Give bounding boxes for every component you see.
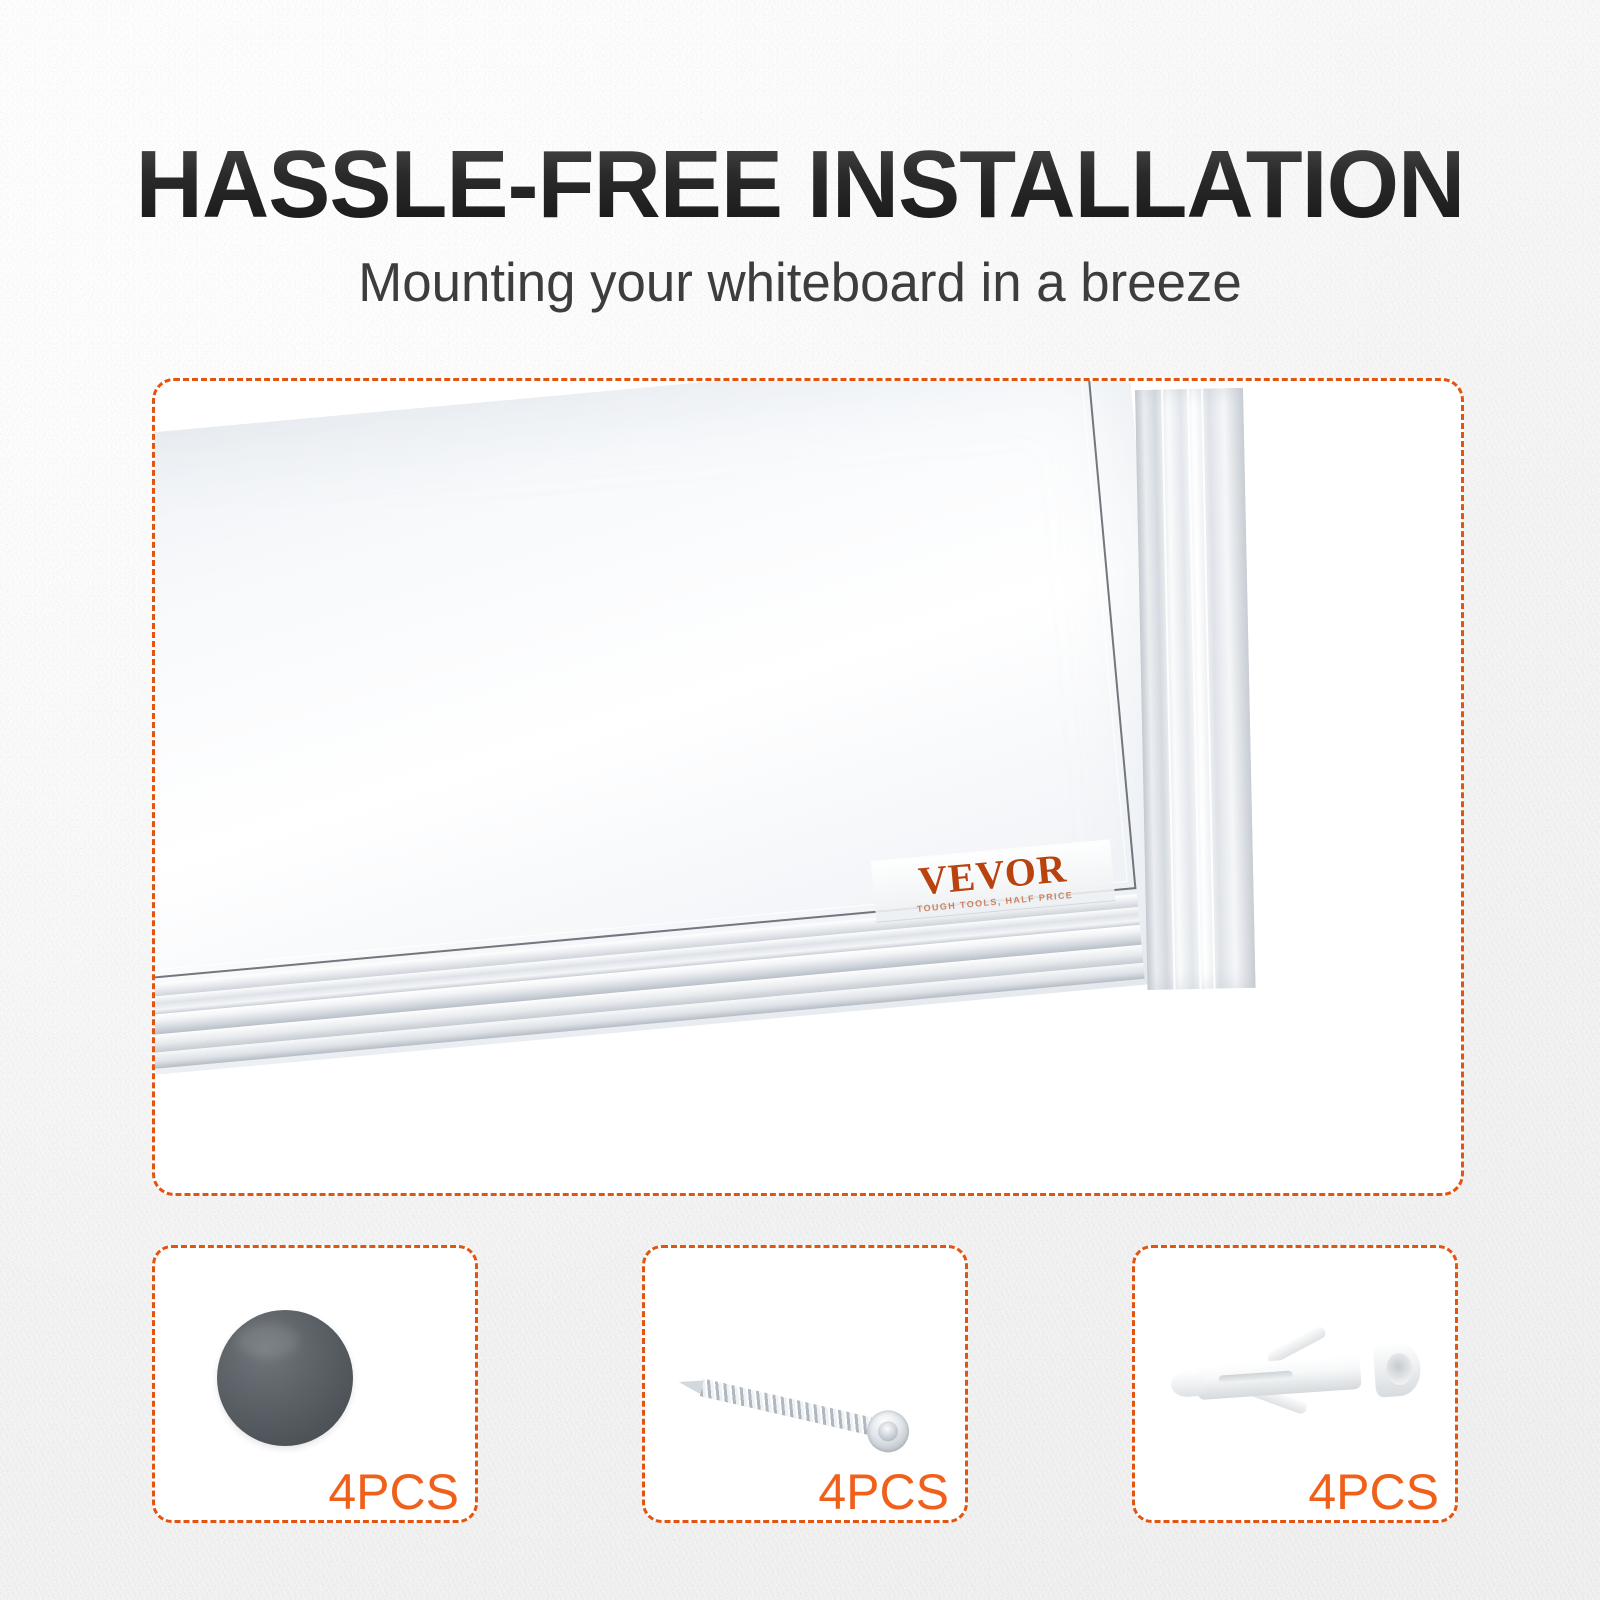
part-quantity-label: 4PCS <box>1308 1466 1439 1519</box>
installation-diagram-panel: VEVOR TOUGH TOOLS, HALF PRICE <box>152 378 1464 1196</box>
part-quantity-label: 4PCS <box>328 1466 459 1519</box>
part-quantity-label: 4PCS <box>818 1466 949 1519</box>
page-title: HASSLE-FREE INSTALLATION <box>24 136 1576 234</box>
whiteboard-right-frame <box>1135 388 1256 990</box>
page-subtitle: Mounting your whiteboard in a breeze <box>32 250 1568 314</box>
part-box-screw-cap: 4PCS <box>152 1245 478 1523</box>
whiteboard-product: VEVOR TOUGH TOOLS, HALF PRICE <box>152 378 1185 1083</box>
part-box-mounting-screw: 4PCS <box>642 1245 968 1523</box>
heading-block: HASSLE-FREE INSTALLATION Mounting your w… <box>0 136 1600 314</box>
part-box-wall-anchor: 4PCS <box>1132 1245 1458 1523</box>
parts-list: 4PCS 4PCS 4PCS <box>152 1245 1458 1517</box>
